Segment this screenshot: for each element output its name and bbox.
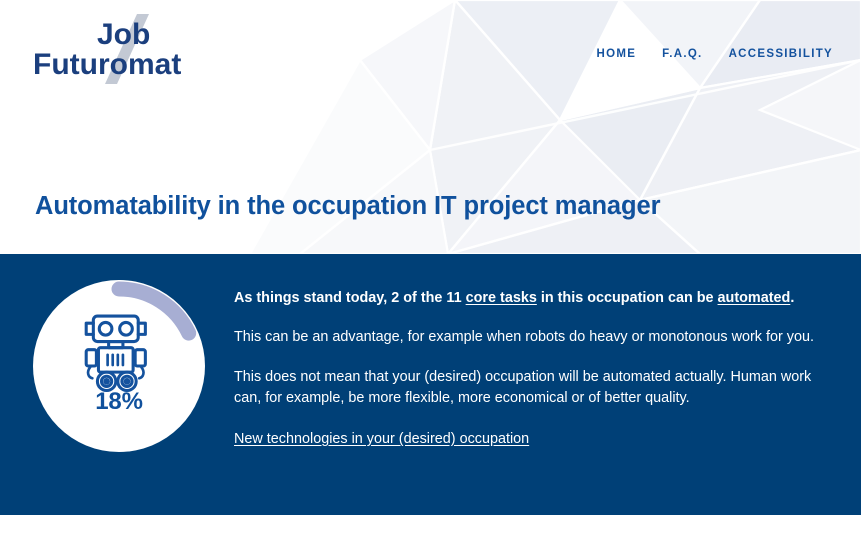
lead-text-part1: As things stand today, 2 of the 11 (234, 290, 466, 306)
logo-text-futuromat: Futuromat (33, 48, 181, 81)
page-title: Automatability in the occupation IT proj… (35, 192, 660, 221)
automatability-result-panel: 18% As things stand today, 2 of the 11 c… (0, 254, 861, 515)
new-technologies-link[interactable]: New technologies in your (desired) occup… (234, 429, 529, 450)
gauge-track (33, 280, 205, 452)
nav-item-accessibility[interactable]: ACCESSIBILITY (729, 48, 833, 60)
nav-item-home[interactable]: HOME (596, 48, 636, 60)
result-paragraph-advantage: This can be an advantage, for example wh… (234, 327, 814, 348)
result-paragraph-disclaimer: This does not mean that your (desired) o… (234, 367, 814, 409)
footer-spacer (0, 515, 861, 535)
lead-text-part3: . (790, 290, 794, 306)
site-header: Job Futuromat HOME F.A.Q. ACCESSIBILITY … (0, 0, 861, 254)
core-tasks-link[interactable]: core tasks (466, 290, 537, 306)
result-lead-paragraph: As things stand today, 2 of the 11 core … (234, 288, 814, 309)
logo-text-job: Job (97, 18, 150, 51)
job-futuromat-page: Job Futuromat HOME F.A.Q. ACCESSIBILITY … (0, 0, 861, 535)
nav-item-faq[interactable]: F.A.Q. (662, 48, 702, 60)
automatability-gauge: 18% (33, 280, 205, 452)
gauge-value-label: 18% (33, 388, 205, 416)
main-navigation: HOME F.A.Q. ACCESSIBILITY (596, 48, 833, 60)
lead-text-part2: in this occupation can be (537, 290, 718, 306)
automated-link[interactable]: automated (718, 290, 791, 306)
site-logo[interactable]: Job Futuromat (33, 12, 263, 84)
result-text-content: As things stand today, 2 of the 11 core … (234, 288, 814, 450)
